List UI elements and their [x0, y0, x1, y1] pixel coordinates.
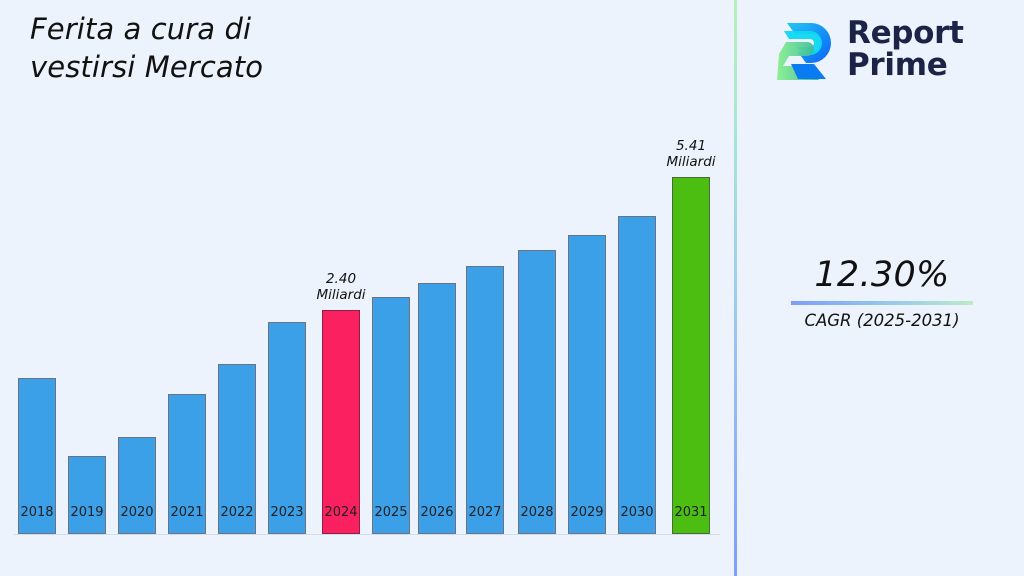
x-tick-2025: 2025 — [374, 505, 407, 520]
cagr-divider-rule — [791, 301, 973, 305]
bar-2028[interactable] — [518, 250, 556, 534]
x-tick-2019: 2019 — [70, 505, 103, 520]
bar-2025[interactable] — [372, 297, 410, 534]
brand-logo: Report Prime — [773, 14, 964, 86]
cagr-value: 12.30% — [757, 255, 1007, 295]
x-tick-2026: 2026 — [420, 505, 453, 520]
x-tick-2024: 2024 — [324, 505, 357, 520]
bar-2031[interactable] — [672, 177, 710, 534]
bar-2024[interactable] — [322, 310, 360, 534]
chart-panel: Ferita a cura di vestirsi Mercato 201820… — [0, 0, 734, 576]
x-tick-2018: 2018 — [20, 505, 53, 520]
bar-2030[interactable] — [618, 216, 656, 534]
cagr-block: 12.30% CAGR (2025-2031) — [757, 255, 1007, 330]
infographic-page: Ferita a cura di vestirsi Mercato 201820… — [0, 0, 1024, 576]
x-tick-2027: 2027 — [468, 505, 501, 520]
x-tick-2030: 2030 — [620, 505, 653, 520]
bar-2023[interactable] — [268, 322, 306, 534]
brand-wordmark: Report Prime — [847, 18, 964, 81]
x-tick-2022: 2022 — [220, 505, 253, 520]
x-tick-2020: 2020 — [120, 505, 153, 520]
x-tick-2028: 2028 — [520, 505, 553, 520]
bar-2026[interactable] — [418, 283, 456, 534]
cagr-label: CAGR (2025-2031) — [757, 311, 1007, 330]
x-tick-2023: 2023 — [270, 505, 303, 520]
bar-chart-plot: 2018201920202021202220232.40 Miliardi202… — [0, 0, 734, 576]
x-axis-line — [14, 534, 720, 535]
x-tick-2031: 2031 — [674, 505, 707, 520]
report-prime-r-mark-icon — [773, 14, 835, 86]
bar-2019[interactable] — [68, 456, 106, 534]
bar-value-label-2031: 5.41 Miliardi — [646, 139, 736, 171]
brand-panel: Report Prime 12.30% CAGR (2025-2031) — [737, 0, 1024, 576]
x-tick-2029: 2029 — [570, 505, 603, 520]
x-tick-2021: 2021 — [170, 505, 203, 520]
bar-2029[interactable] — [568, 235, 606, 534]
bar-2027[interactable] — [466, 266, 504, 534]
